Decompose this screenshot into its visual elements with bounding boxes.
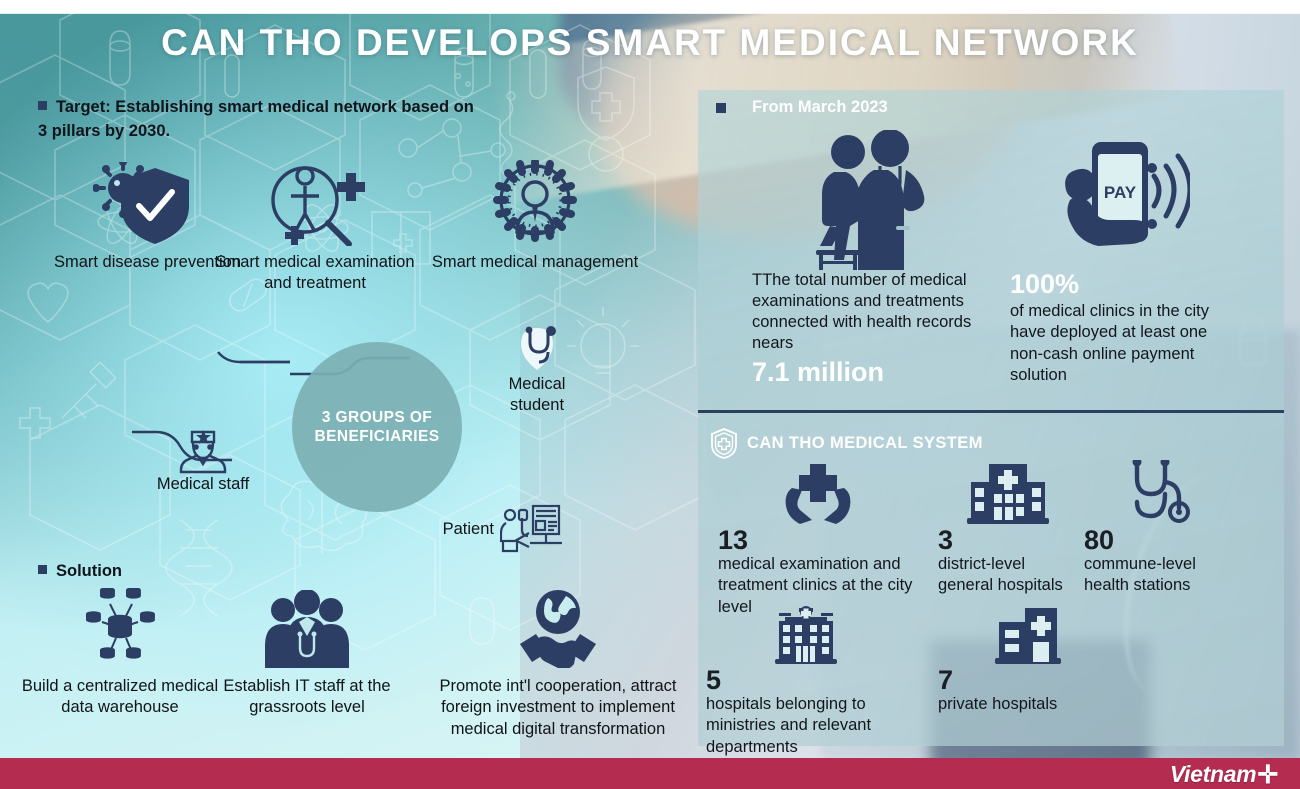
beneficiaries-line1: 3 GROUPS OF xyxy=(315,408,440,427)
pillar-smart-medical-examination: Smart medical examination and treatment xyxy=(210,160,420,294)
beneficiaries-line2: BENEFICIARIES xyxy=(315,427,440,446)
stat-value: 7.1 million xyxy=(752,358,982,386)
magnifier-patient-icon xyxy=(210,160,420,246)
pillar-label: Smart medical examination and treatment xyxy=(210,252,420,294)
target-statement: Target: Establishing smart medical netwo… xyxy=(38,96,478,144)
system-item-city-clinics: 13 medical examination and treatment cli… xyxy=(718,462,918,618)
page-title: CAN THO DEVELOPS SMART MEDICAL NETWORK xyxy=(0,22,1300,64)
system-item-number: 13 xyxy=(718,526,918,554)
solution-heading: Solution xyxy=(38,562,122,581)
stethoscope-icon xyxy=(1084,462,1234,524)
right-panel-heading-text: From March 2023 xyxy=(752,98,888,117)
system-item-district-hospitals: 3 district-level general hospitals xyxy=(938,462,1078,597)
target-text: Target: Establishing smart medical netwo… xyxy=(38,98,474,140)
doctor-examining-patient-icon xyxy=(752,128,982,270)
solution-label: Establish IT staff at the grassroots lev… xyxy=(196,676,418,719)
nurse-icon xyxy=(156,418,250,474)
pillar-label: Smart medical management xyxy=(410,252,660,273)
system-item-ministry-hospitals: 5 hospitals belonging to ministries and … xyxy=(706,606,906,758)
plus-icon: ✛ xyxy=(1257,765,1278,785)
stat-description: of medical clinics in the city have depl… xyxy=(1010,301,1242,385)
vietnamplus-logo[interactable]: Vietnam✛ xyxy=(1170,761,1278,788)
system-item-number: 80 xyxy=(1084,526,1234,554)
pillars-group: Smart disease prevention Smar xyxy=(0,160,690,330)
beneficiary-label: Patient xyxy=(418,519,494,540)
beneficiary-label: Medical staff xyxy=(156,474,250,495)
system-item-number: 7 xyxy=(938,666,1118,694)
system-item-label: private hospitals xyxy=(938,694,1118,715)
beneficiary-medical-staff: Medical staff xyxy=(156,418,250,495)
shield-cross-icon xyxy=(710,427,738,459)
solution-intl-cooperation: Promote int'l cooperation, attract forei… xyxy=(418,586,698,740)
solution-label: Build a centralized medical data warehou… xyxy=(20,676,220,719)
bullet-square-icon xyxy=(38,565,47,574)
solution-label: Promote int'l cooperation, attract forei… xyxy=(418,676,698,740)
system-item-number: 5 xyxy=(706,666,906,694)
solution-data-warehouse: Build a centralized medical data warehou… xyxy=(20,586,220,719)
gear-manager-icon xyxy=(410,160,660,246)
system-item-private-hospitals: 7 private hospitals xyxy=(938,606,1118,715)
stat-value: 100% xyxy=(1010,270,1242,298)
system-item-label: district-level general hospitals xyxy=(938,554,1078,596)
medical-system-heading-text: CAN THO MEDICAL SYSTEM xyxy=(747,434,983,453)
beneficiary-medical-student: Medical student xyxy=(490,322,584,415)
stat-description: TThe total number of medical examination… xyxy=(752,270,982,354)
footer-bar: Vietnam✛ xyxy=(0,758,1300,789)
globe-handshake-icon xyxy=(418,586,698,668)
patient-monitor-icon xyxy=(500,500,562,558)
hands-cross-icon xyxy=(718,462,918,524)
medical-system-heading: CAN THO MEDICAL SYSTEM xyxy=(710,427,983,459)
stat-cashless-payment: PAY 100% of medical clinics in the city … xyxy=(1010,128,1242,386)
stethoscope-student-icon xyxy=(490,322,584,374)
top-divider-line xyxy=(0,12,1300,14)
data-warehouse-icon xyxy=(20,586,220,668)
footer-brand-text: Vietnam xyxy=(1170,761,1257,788)
beneficiary-label: Medical student xyxy=(490,374,584,415)
hospital-building-icon xyxy=(938,462,1078,524)
mobile-pay-icon: PAY xyxy=(1010,128,1242,270)
medical-team-icon xyxy=(196,586,418,668)
system-item-number: 3 xyxy=(938,526,1078,554)
ministry-hospital-icon xyxy=(706,606,906,664)
solution-heading-text: Solution xyxy=(56,562,122,580)
right-panel-divider xyxy=(698,410,1284,413)
beneficiary-patient: Patient xyxy=(418,500,598,558)
svg-text:PAY: PAY xyxy=(1104,183,1137,202)
pillar-smart-medical-management: Smart medical management xyxy=(410,160,660,273)
private-hospital-icon xyxy=(938,606,1118,664)
infographic-root: CAN THO DEVELOPS SMART MEDICAL NETWORK T… xyxy=(0,0,1300,789)
system-item-label: commune-level health stations xyxy=(1084,554,1234,596)
system-item-commune-stations: 80 commune-level health stations xyxy=(1084,462,1234,597)
stat-health-records: TThe total number of medical examination… xyxy=(752,128,982,387)
solution-it-staff: Establish IT staff at the grassroots lev… xyxy=(196,586,418,719)
bullet-square-icon xyxy=(38,101,47,110)
right-panel-heading: From March 2023 xyxy=(716,98,888,117)
bullet-square-icon xyxy=(716,103,726,113)
beneficiaries-circle: 3 GROUPS OF BENEFICIARIES xyxy=(292,342,462,512)
system-item-label: hospitals belonging to ministries and re… xyxy=(706,694,906,757)
